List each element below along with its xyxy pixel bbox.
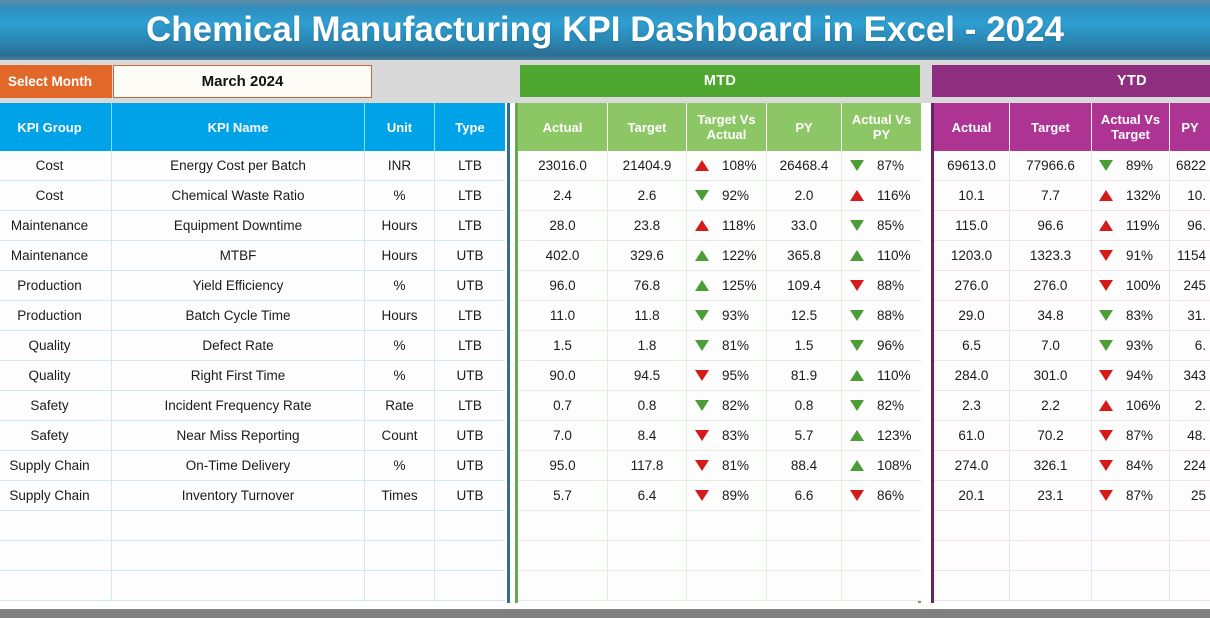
arrow-up-icon [695,160,709,171]
cell-mtd-actual [518,541,608,571]
arrow-up-icon [695,250,709,261]
cell-unit: % [365,331,435,361]
arrow-down-icon [695,340,709,351]
cell-mtd-actual-vs-py: 87% [842,151,921,181]
cell-mtd-actual-vs-py: 116% [842,181,921,211]
cell-mtd-target-vs-actual: 122% [687,241,767,271]
table-row: 7.08.483%5.7123% [518,421,921,451]
arrow-down-icon [1099,370,1113,381]
cell-ytd-target: 2.2 [1010,391,1092,421]
cell-mtd-actual-vs-py: 108% [842,451,921,481]
cell-type [435,541,505,571]
cell-mtd-target: 2.6 [608,181,687,211]
arrow-down-icon [695,400,709,411]
table-row: 69613.077966.689%6822 [934,151,1210,181]
cell-ytd-actual-vs-target: 132% [1092,181,1170,211]
cell-mtd-actual-vs-py: 88% [842,271,921,301]
arrow-down-icon [850,220,864,231]
cell-unit: Hours [365,301,435,331]
arrow-up-icon [1099,220,1113,231]
cell-unit: % [365,451,435,481]
cell-type: UTB [435,361,505,391]
table-row: CostChemical Waste Ratio%LTB [0,181,505,211]
cell-ytd-py: 48. [1170,421,1210,451]
cell-mtd-py: 33.0 [767,211,842,241]
arrow-up-icon [850,250,864,261]
cell-ytd-py: 245 [1170,271,1210,301]
cell-mtd-target-vs-actual: 118% [687,211,767,241]
cell-ytd-py: 31. [1170,301,1210,331]
table-row: 1203.01323.391%1154 [934,241,1210,271]
cell-unit: Times [365,481,435,511]
table-row: QualityRight First Time%UTB [0,361,505,391]
cell-mtd-actual: 95.0 [518,451,608,481]
variance-percent: 81% [722,458,758,473]
table-row: 2.42.692%2.0116% [518,181,921,211]
cell-mtd-py [767,571,842,601]
cell-ytd-actual [934,541,1010,571]
cell-ytd-actual-vs-target: 87% [1092,481,1170,511]
variance-percent: 122% [722,248,758,263]
cell-mtd-actual: 7.0 [518,421,608,451]
variance-percent: 81% [722,338,758,353]
cell-mtd-py [767,541,842,571]
cell-kpi-group: Cost [0,181,112,211]
cell-ytd-actual: 284.0 [934,361,1010,391]
kpi-info-block: KPI GroupKPI NameUnitType CostEnergy Cos… [0,103,510,603]
cell-mtd-target: 76.8 [608,271,687,301]
cell-mtd-actual-vs-py: 96% [842,331,921,361]
arrow-up-icon [850,370,864,381]
arrow-down-icon [850,160,864,171]
variance-percent: 100% [1126,278,1162,293]
cell-kpi-group: Safety [0,421,112,451]
cell-mtd-target [608,511,687,541]
table-row: MaintenanceMTBFHoursUTB [0,241,505,271]
variance-percent: 86% [877,488,913,503]
cell-mtd-actual-vs-py: 110% [842,361,921,391]
arrow-down-icon [850,310,864,321]
ytd-header-cell[interactable]: Actual Vs Target [1092,103,1170,151]
cell-ytd-actual-vs-target [1092,511,1170,541]
cell-mtd-target: 11.8 [608,301,687,331]
cell-mtd-actual: 90.0 [518,361,608,391]
cell-mtd-actual-vs-py: 82% [842,391,921,421]
cell-ytd-actual-vs-target [1092,541,1170,571]
cell-kpi-name: Yield Efficiency [112,271,365,301]
cell-mtd-actual-vs-py: 110% [842,241,921,271]
cell-ytd-actual [934,571,1010,601]
arrow-down-icon [695,190,709,201]
variance-percent: 87% [1126,428,1162,443]
kpi-info-header-cell[interactable]: Unit [365,103,435,151]
arrow-up-icon [850,460,864,471]
arrow-up-icon [1099,400,1113,411]
variance-percent: 132% [1126,188,1162,203]
table-row: 90.094.595%81.9110% [518,361,921,391]
variance-percent: 93% [1126,338,1162,353]
cell-kpi-group: Safety [0,391,112,421]
table-row: Supply ChainOn-Time Delivery%UTB [0,451,505,481]
cell-mtd-py: 88.4 [767,451,842,481]
cell-ytd-actual: 6.5 [934,331,1010,361]
arrow-up-icon [695,220,709,231]
table-row [934,541,1210,571]
kpi-table: KPI GroupKPI NameUnitType CostEnergy Cos… [0,103,1210,603]
variance-percent: 85% [877,218,913,233]
variance-percent: 108% [722,158,758,173]
cell-mtd-target-vs-actual: 93% [687,301,767,331]
cell-mtd-target-vs-actual [687,571,767,601]
cell-mtd-target-vs-actual: 92% [687,181,767,211]
variance-percent: 116% [877,188,913,203]
cell-kpi-name: On-Time Delivery [112,451,365,481]
cell-ytd-actual: 2.3 [934,391,1010,421]
variance-percent: 125% [722,278,758,293]
cell-ytd-target: 1323.3 [1010,241,1092,271]
cell-kpi-group: Production [0,301,112,331]
cell-mtd-py [767,511,842,541]
cell-mtd-actual-vs-py [842,541,921,571]
cell-mtd-py: 6.6 [767,481,842,511]
cell-mtd-target: 6.4 [608,481,687,511]
cell-mtd-target-vs-actual: 82% [687,391,767,421]
cell-kpi-name: Chemical Waste Ratio [112,181,365,211]
variance-percent: 119% [1126,218,1162,233]
table-row: 11.011.893%12.588% [518,301,921,331]
cell-type: LTB [435,151,505,181]
cell-mtd-target-vs-actual [687,511,767,541]
cell-ytd-actual-vs-target: 91% [1092,241,1170,271]
ytd-block: ActualTargetActual Vs TargetPY 69613.077… [931,103,1210,603]
cell-mtd-target: 8.4 [608,421,687,451]
cell-kpi-group: Cost [0,151,112,181]
mtd-group-banner: MTD [520,65,920,97]
cell-type: LTB [435,391,505,421]
mtd-header-cell[interactable]: PY [767,103,842,151]
cell-kpi-group: Quality [0,331,112,361]
cell-ytd-actual: 276.0 [934,271,1010,301]
cell-type: UTB [435,451,505,481]
cell-type [435,511,505,541]
cell-kpi-name: Equipment Downtime [112,211,365,241]
cell-kpi-group: Supply Chain [0,481,112,511]
cell-mtd-py: 26468.4 [767,151,842,181]
cell-mtd-actual: 5.7 [518,481,608,511]
cell-ytd-actual: 69613.0 [934,151,1010,181]
table-row [0,571,505,601]
cell-mtd-target [608,541,687,571]
table-row: 274.0326.184%224 [934,451,1210,481]
table-row: 96.076.8125%109.488% [518,271,921,301]
arrow-up-icon [850,190,864,201]
cell-kpi-name: MTBF [112,241,365,271]
cell-kpi-name: Near Miss Reporting [112,421,365,451]
variance-percent: 91% [1126,248,1162,263]
mtd-header-cell[interactable]: Actual [518,103,608,151]
page-title: Chemical Manufacturing KPI Dashboard in … [146,10,1064,50]
cell-type: UTB [435,481,505,511]
cell-ytd-target: 326.1 [1010,451,1092,481]
cell-ytd-actual-vs-target: 83% [1092,301,1170,331]
cell-mtd-py: 0.8 [767,391,842,421]
table-row: SafetyIncident Frequency RateRateLTB [0,391,505,421]
table-row: 284.0301.094%343 [934,361,1210,391]
cell-ytd-target: 77966.6 [1010,151,1092,181]
cell-ytd-target: 96.6 [1010,211,1092,241]
cell-type: LTB [435,301,505,331]
variance-percent: 106% [1126,398,1162,413]
variance-percent: 110% [877,368,913,383]
cell-mtd-actual-vs-py [842,511,921,541]
arrow-up-icon [1099,190,1113,201]
cell-ytd-target: 301.0 [1010,361,1092,391]
cell-ytd-actual-vs-target: 84% [1092,451,1170,481]
table-row: 10.17.7132%10. [934,181,1210,211]
cell-mtd-actual [518,511,608,541]
arrow-down-icon [1099,310,1113,321]
ytd-header-cell[interactable]: Actual [934,103,1010,151]
cell-kpi-group [0,571,112,601]
cell-mtd-actual: 23016.0 [518,151,608,181]
cell-type: LTB [435,331,505,361]
table-row: QualityDefect Rate%LTB [0,331,505,361]
table-row: 0.70.882%0.882% [518,391,921,421]
cell-ytd-py [1170,571,1210,601]
variance-percent: 96% [877,338,913,353]
arrow-down-icon [695,310,709,321]
cell-mtd-actual-vs-py: 85% [842,211,921,241]
cell-mtd-target-vs-actual: 83% [687,421,767,451]
table-row: 95.0117.881%88.4108% [518,451,921,481]
variance-percent: 83% [722,428,758,443]
cell-mtd-actual [518,571,608,601]
cell-unit: % [365,271,435,301]
table-row: MaintenanceEquipment DowntimeHoursLTB [0,211,505,241]
cell-ytd-target: 23.1 [1010,481,1092,511]
cell-type: UTB [435,271,505,301]
cell-ytd-py: 1154 [1170,241,1210,271]
table-row: SafetyNear Miss ReportingCountUTB [0,421,505,451]
cell-kpi-group [0,541,112,571]
cell-ytd-actual: 10.1 [934,181,1010,211]
cell-ytd-actual: 1203.0 [934,241,1010,271]
cell-ytd-py: 343 [1170,361,1210,391]
cell-ytd-actual-vs-target: 94% [1092,361,1170,391]
cell-ytd-target: 7.7 [1010,181,1092,211]
cell-mtd-target: 0.8 [608,391,687,421]
cell-mtd-actual: 0.7 [518,391,608,421]
ytd-group-banner: YTD [932,65,1210,97]
table-row [0,511,505,541]
cell-ytd-py [1170,541,1210,571]
arrow-down-icon [1099,490,1113,501]
cell-ytd-actual-vs-target: 100% [1092,271,1170,301]
cell-mtd-target: 23.8 [608,211,687,241]
cell-kpi-group: Maintenance [0,211,112,241]
cell-kpi-name: Incident Frequency Rate [112,391,365,421]
cell-kpi-name: Inventory Turnover [112,481,365,511]
cell-type: UTB [435,421,505,451]
table-row: 61.070.287%48. [934,421,1210,451]
table-row: 29.034.883%31. [934,301,1210,331]
cell-unit: % [365,181,435,211]
cell-mtd-actual-vs-py: 88% [842,301,921,331]
variance-percent: 93% [722,308,758,323]
variance-percent: 84% [1126,458,1162,473]
mtd-header-cell[interactable]: Target [608,103,687,151]
cell-mtd-py: 1.5 [767,331,842,361]
table-row: 6.57.093%6. [934,331,1210,361]
variance-percent: 82% [877,398,913,413]
cell-ytd-actual-vs-target: 119% [1092,211,1170,241]
arrow-down-icon [1099,340,1113,351]
cell-ytd-target: 7.0 [1010,331,1092,361]
cell-kpi-name: Defect Rate [112,331,365,361]
cell-mtd-target-vs-actual: 81% [687,331,767,361]
cell-mtd-py: 5.7 [767,421,842,451]
cell-ytd-target [1010,571,1092,601]
arrow-down-icon [695,430,709,441]
table-row [518,571,921,601]
table-row [934,571,1210,601]
cell-ytd-actual-vs-target: 106% [1092,391,1170,421]
cell-kpi-group: Supply Chain [0,451,112,481]
cell-mtd-actual: 28.0 [518,211,608,241]
table-row: 2.32.2106%2. [934,391,1210,421]
cell-mtd-target: 94.5 [608,361,687,391]
variance-percent: 83% [1126,308,1162,323]
cell-ytd-target [1010,511,1092,541]
arrow-up-icon [850,430,864,441]
cell-mtd-target-vs-actual: 95% [687,361,767,391]
table-row [0,541,505,571]
ytd-header-cell[interactable]: Target [1010,103,1092,151]
arrow-up-icon [695,280,709,291]
cell-ytd-target [1010,541,1092,571]
arrow-down-icon [850,490,864,501]
cell-ytd-actual-vs-target: 93% [1092,331,1170,361]
cell-ytd-actual: 115.0 [934,211,1010,241]
variance-percent: 94% [1126,368,1162,383]
table-row: ProductionBatch Cycle TimeHoursLTB [0,301,505,331]
cell-mtd-target-vs-actual: 81% [687,451,767,481]
cell-mtd-target [608,571,687,601]
table-row [518,511,921,541]
variance-percent: 110% [877,248,913,263]
cell-mtd-actual: 2.4 [518,181,608,211]
cell-ytd-actual [934,511,1010,541]
cell-mtd-actual: 96.0 [518,271,608,301]
table-row: 276.0276.0100%245 [934,271,1210,301]
cell-ytd-actual-vs-target: 87% [1092,421,1170,451]
arrow-down-icon [1099,460,1113,471]
cell-mtd-actual: 402.0 [518,241,608,271]
variance-percent: 89% [1126,158,1162,173]
arrow-down-icon [850,280,864,291]
arrow-down-icon [1099,160,1113,171]
ytd-header-cell[interactable]: PY [1170,103,1210,151]
cell-kpi-group: Maintenance [0,241,112,271]
select-month-label: Select Month [0,65,112,98]
variance-percent: 87% [877,158,913,173]
cell-kpi-name [112,571,365,601]
cell-ytd-actual: 29.0 [934,301,1010,331]
arrow-down-icon [850,340,864,351]
cell-kpi-name [112,541,365,571]
table-row: 20.123.187%25 [934,481,1210,511]
variance-percent: 87% [1126,488,1162,503]
cell-mtd-actual-vs-py: 86% [842,481,921,511]
cell-kpi-name: Energy Cost per Batch [112,151,365,181]
cell-ytd-py [1170,511,1210,541]
cell-mtd-target: 1.8 [608,331,687,361]
table-row: ProductionYield Efficiency%UTB [0,271,505,301]
cell-mtd-target-vs-actual: 89% [687,481,767,511]
variance-percent: 82% [722,398,758,413]
cell-mtd-py: 12.5 [767,301,842,331]
cell-kpi-name [112,511,365,541]
table-row: 115.096.6119%96. [934,211,1210,241]
table-row [518,541,921,571]
cell-ytd-actual: 274.0 [934,451,1010,481]
variance-percent: 92% [722,188,758,203]
table-row [934,511,1210,541]
cell-ytd-actual: 61.0 [934,421,1010,451]
cell-mtd-target: 21404.9 [608,151,687,181]
cell-kpi-name: Batch Cycle Time [112,301,365,331]
cell-kpi-group: Production [0,271,112,301]
cell-ytd-target: 276.0 [1010,271,1092,301]
variance-percent: 89% [722,488,758,503]
cell-kpi-name: Right First Time [112,361,365,391]
arrow-down-icon [850,400,864,411]
cell-mtd-target-vs-actual: 108% [687,151,767,181]
table-row: Supply ChainInventory TurnoverTimesUTB [0,481,505,511]
kpi-info-header-cell[interactable]: KPI Name [112,103,365,151]
ytd-header-row: ActualTargetActual Vs TargetPY [934,103,1210,151]
mtd-header-cell[interactable]: Target Vs Actual [687,103,767,151]
variance-percent: 118% [722,218,758,233]
cell-ytd-target: 70.2 [1010,421,1092,451]
mtd-header-row: ActualTargetTarget Vs ActualPYActual Vs … [518,103,921,151]
select-month-input[interactable]: March 2024 [113,65,372,98]
cell-ytd-py: 2. [1170,391,1210,421]
cell-mtd-py: 365.8 [767,241,842,271]
mtd-header-cell[interactable]: Actual Vs PY [842,103,921,151]
cell-unit: % [365,361,435,391]
variance-percent: 88% [877,308,913,323]
cell-mtd-py: 81.9 [767,361,842,391]
cell-ytd-py: 25 [1170,481,1210,511]
cell-ytd-py: 10. [1170,181,1210,211]
cell-mtd-target: 329.6 [608,241,687,271]
kpi-info-header-cell[interactable]: KPI Group [0,103,112,151]
cell-unit [365,571,435,601]
cell-mtd-target-vs-actual [687,541,767,571]
cell-ytd-py: 6822 [1170,151,1210,181]
cell-mtd-py: 2.0 [767,181,842,211]
table-row: 5.76.489%6.686% [518,481,921,511]
cell-ytd-py: 224 [1170,451,1210,481]
window-bottom-bar [0,609,1210,618]
cell-unit [365,541,435,571]
cell-ytd-actual-vs-target: 89% [1092,151,1170,181]
cell-unit: Count [365,421,435,451]
kpi-info-header-cell[interactable]: Type [435,103,505,151]
cell-mtd-actual-vs-py: 123% [842,421,921,451]
cell-unit [365,511,435,541]
